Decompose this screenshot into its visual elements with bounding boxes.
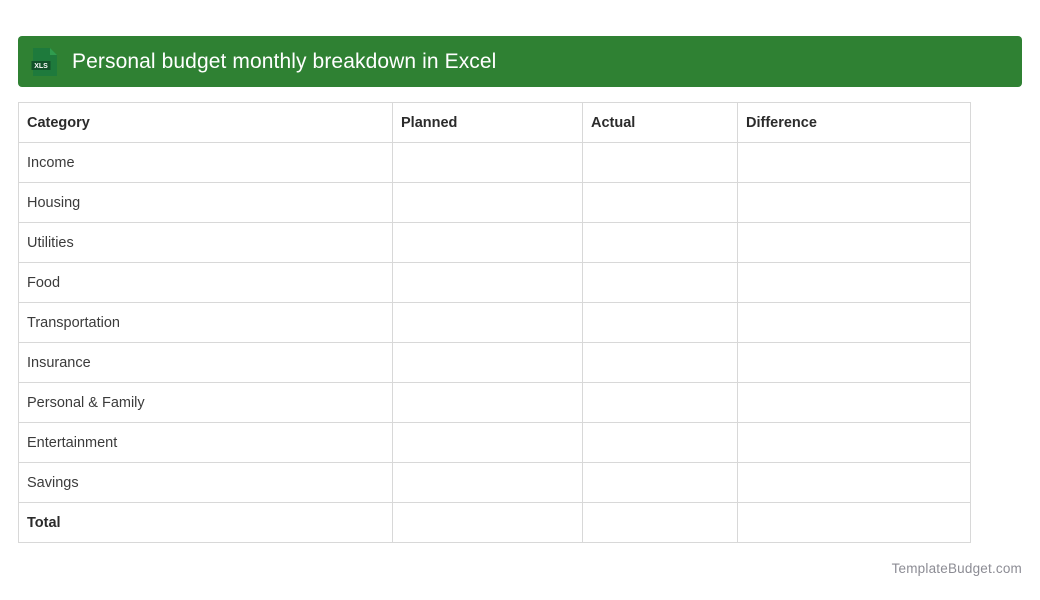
cell-difference[interactable] (738, 423, 971, 463)
cell-planned[interactable] (393, 343, 583, 383)
cell-planned[interactable] (393, 463, 583, 503)
cell-actual[interactable] (583, 263, 738, 303)
table-total-row: Total (19, 503, 971, 543)
cell-difference[interactable] (738, 143, 971, 183)
table-row: Transportation (19, 303, 971, 343)
cell-difference[interactable] (738, 183, 971, 223)
cell-category: Transportation (19, 303, 393, 343)
budget-breakdown-table: Category Planned Actual Difference Incom… (18, 102, 971, 543)
cell-actual[interactable] (583, 463, 738, 503)
cell-category: Personal & Family (19, 383, 393, 423)
cell-actual[interactable] (583, 183, 738, 223)
column-header-actual: Actual (583, 103, 738, 143)
table-header-row: Category Planned Actual Difference (19, 103, 971, 143)
cell-total-difference[interactable] (738, 503, 971, 543)
cell-category: Savings (19, 463, 393, 503)
cell-actual[interactable] (583, 343, 738, 383)
cell-difference[interactable] (738, 263, 971, 303)
cell-planned[interactable] (393, 383, 583, 423)
cell-category: Entertainment (19, 423, 393, 463)
table-row: Housing (19, 183, 971, 223)
footer-attribution: TemplateBudget.com (892, 561, 1022, 576)
column-header-planned: Planned (393, 103, 583, 143)
cell-actual[interactable] (583, 143, 738, 183)
cell-category: Housing (19, 183, 393, 223)
cell-difference[interactable] (738, 383, 971, 423)
cell-planned[interactable] (393, 423, 583, 463)
cell-planned[interactable] (393, 263, 583, 303)
cell-category: Income (19, 143, 393, 183)
xls-icon-label: XLS (34, 63, 48, 70)
cell-planned[interactable] (393, 223, 583, 263)
cell-actual[interactable] (583, 223, 738, 263)
cell-actual[interactable] (583, 423, 738, 463)
table-row: Entertainment (19, 423, 971, 463)
table-row: Income (19, 143, 971, 183)
column-header-difference: Difference (738, 103, 971, 143)
cell-difference[interactable] (738, 303, 971, 343)
cell-total-actual[interactable] (583, 503, 738, 543)
budget-template-page: XLS Personal budget monthly breakdown in… (0, 0, 1040, 600)
cell-difference[interactable] (738, 463, 971, 503)
cell-actual[interactable] (583, 383, 738, 423)
cell-actual[interactable] (583, 303, 738, 343)
column-header-category: Category (19, 103, 393, 143)
cell-planned[interactable] (393, 183, 583, 223)
table-row: Personal & Family (19, 383, 971, 423)
table-row: Insurance (19, 343, 971, 383)
cell-category: Utilities (19, 223, 393, 263)
cell-difference[interactable] (738, 223, 971, 263)
cell-planned[interactable] (393, 143, 583, 183)
table-row: Savings (19, 463, 971, 503)
xls-file-icon: XLS (30, 47, 60, 77)
cell-planned[interactable] (393, 303, 583, 343)
cell-category: Insurance (19, 343, 393, 383)
page-title: Personal budget monthly breakdown in Exc… (72, 51, 496, 72)
cell-total-planned[interactable] (393, 503, 583, 543)
cell-category: Food (19, 263, 393, 303)
table-row: Food (19, 263, 971, 303)
cell-total-label: Total (19, 503, 393, 543)
title-banner: XLS Personal budget monthly breakdown in… (18, 36, 1022, 87)
cell-difference[interactable] (738, 343, 971, 383)
table-row: Utilities (19, 223, 971, 263)
